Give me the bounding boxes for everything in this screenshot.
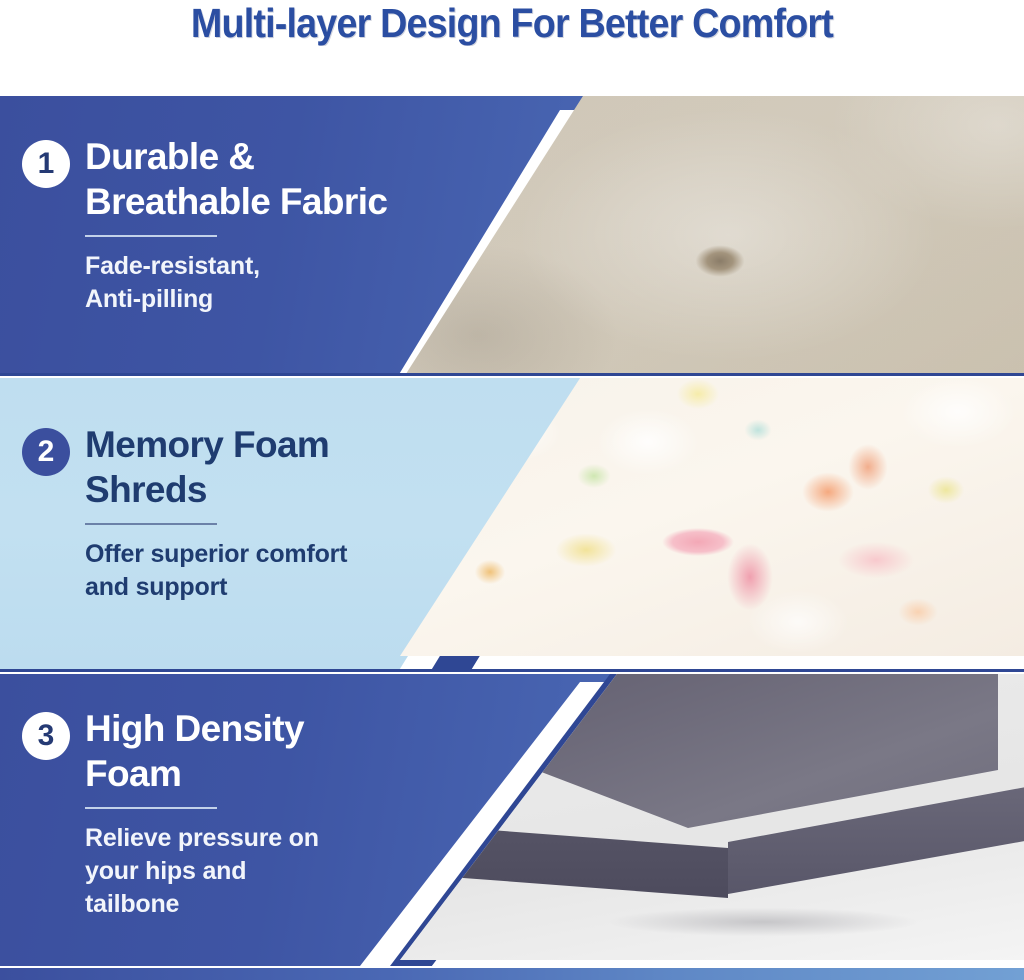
page-header: Multi-layer Design For Better Comfort	[0, 0, 1024, 56]
layer-2-heading-row: 2 Memory Foam Shreds	[22, 422, 442, 512]
layer-3-title-line-1: High Density	[85, 706, 304, 751]
layer-1-content: 1 Durable & Breathable Fabric Fade-resis…	[22, 96, 442, 376]
footer-accent-bar	[0, 968, 1024, 980]
layer-3-title: High Density Foam	[85, 706, 304, 796]
layer-3-subtitle: Relieve pressure on your hips and tailbo…	[85, 822, 442, 921]
layer-2-subtitle: Offer superior comfort and support	[85, 538, 442, 604]
layer-1-title: Durable & Breathable Fabric	[85, 134, 387, 224]
layer-2-title: Memory Foam Shreds	[85, 422, 329, 512]
layer-1-heading-row: 1 Durable & Breathable Fabric	[22, 134, 442, 224]
layer-panel-1: 1 Durable & Breathable Fabric Fade-resis…	[0, 96, 1024, 376]
layer-2-content: 2 Memory Foam Shreds Offer superior comf…	[22, 378, 442, 672]
panel-2-bottom-rule	[0, 669, 1024, 672]
layer-2-title-line-2: Shreds	[85, 467, 329, 512]
layer-2-title-line-1: Memory Foam	[85, 422, 329, 467]
layer-2-subtitle-line-1: Offer superior comfort	[85, 538, 442, 571]
layer-3-subtitle-line-1: Relieve pressure on	[85, 822, 442, 855]
layer-3-subtitle-line-3: tailbone	[85, 888, 442, 921]
layer-3-title-line-2: Foam	[85, 751, 304, 796]
layer-1-title-line-2: Breathable Fabric	[85, 179, 387, 224]
layer-1-divider	[85, 235, 217, 237]
layer-1-title-line-1: Durable &	[85, 134, 387, 179]
layer-3-number-badge: 3	[22, 712, 70, 760]
layer-panel-2: 2 Memory Foam Shreds Offer superior comf…	[0, 378, 1024, 672]
layer-2-divider	[85, 523, 217, 525]
layer-2-number-badge: 2	[22, 428, 70, 476]
page-title: Multi-layer Design For Better Comfort	[191, 0, 833, 47]
layer-1-number-badge: 1	[22, 140, 70, 188]
layer-2-subtitle-line-2: and support	[85, 571, 442, 604]
layer-3-heading-row: 3 High Density Foam	[22, 706, 442, 796]
layer-1-subtitle: Fade-resistant, Anti-pilling	[85, 250, 442, 316]
layer-1-subtitle-line-2: Anti-pilling	[85, 283, 442, 316]
layer-3-divider	[85, 807, 217, 809]
layer-panel-3: 3 High Density Foam Relieve pressure on …	[0, 674, 1024, 966]
layer-3-content: 3 High Density Foam Relieve pressure on …	[22, 674, 442, 966]
layer-1-subtitle-line-1: Fade-resistant,	[85, 250, 442, 283]
layer-3-subtitle-line-2: your hips and	[85, 855, 442, 888]
panel-1-bottom-rule	[0, 373, 1024, 376]
foam-block-shadow	[548, 902, 978, 942]
